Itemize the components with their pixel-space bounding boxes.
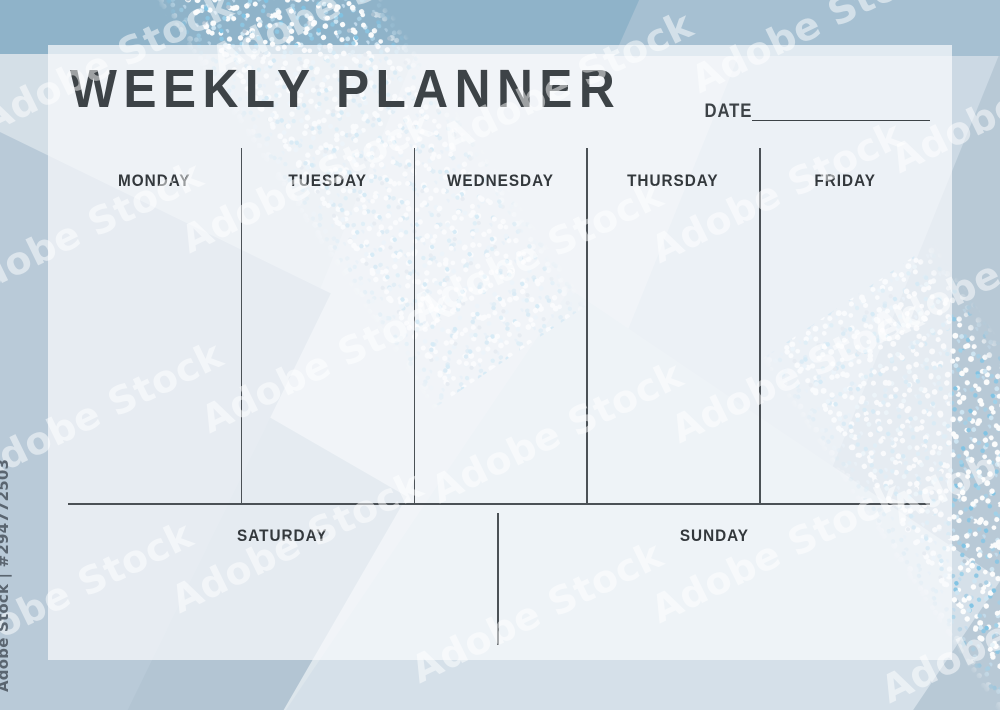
weekday-grid: MONDAY TUESDAY WEDNESDAY THURSDAY FRIDAY	[68, 148, 932, 548]
day-label-tuesday: TUESDAY	[288, 172, 367, 189]
planner-poster: WEEKLY PLANNER DATE MONDAY TUESDAY WEDNE…	[0, 0, 1000, 710]
day-column-saturday[interactable]: SATURDAY	[68, 505, 497, 655]
date-label: DATE	[704, 102, 752, 123]
day-label-monday: MONDAY	[118, 172, 191, 189]
weekend-grid: SATURDAY SUNDAY	[68, 505, 932, 655]
day-label-saturday: SATURDAY	[237, 527, 327, 544]
date-write-line[interactable]	[752, 120, 930, 121]
day-label-friday: FRIDAY	[815, 172, 876, 189]
day-column-thursday[interactable]: THURSDAY	[586, 148, 759, 548]
stock-credit: Adobe Stock | #294772503	[0, 459, 12, 692]
planner-card: WEEKLY PLANNER DATE MONDAY TUESDAY WEDNE…	[48, 45, 952, 660]
date-field[interactable]: DATE	[698, 102, 930, 123]
day-label-thursday: THURSDAY	[627, 172, 719, 189]
day-label-sunday: SUNDAY	[680, 527, 749, 544]
day-column-friday[interactable]: FRIDAY	[759, 148, 932, 548]
day-column-sunday[interactable]: SUNDAY	[497, 505, 932, 655]
page-title: WEEKLY PLANNER	[70, 62, 621, 116]
day-column-tuesday[interactable]: TUESDAY	[241, 148, 414, 548]
day-column-monday[interactable]: MONDAY	[68, 148, 241, 548]
day-label-wednesday: WEDNESDAY	[447, 172, 554, 189]
day-column-wednesday[interactable]: WEDNESDAY	[414, 148, 587, 548]
